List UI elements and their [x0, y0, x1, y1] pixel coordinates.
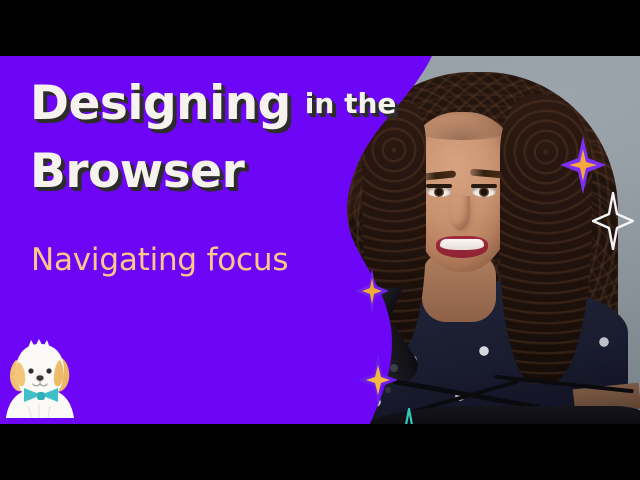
presenter-nose: [450, 196, 470, 230]
presenter-hair-strand-right: [500, 94, 592, 384]
presenter-mouth: [436, 236, 488, 258]
letterbox-top: [0, 0, 640, 56]
video-thumbnail: Designingin the Browser Navigating focus: [0, 0, 640, 480]
subtitle: Navigating focus: [31, 242, 288, 278]
title-overlay: Designingin the Browser Navigating focus: [0, 56, 400, 424]
title-word-in-the: in the: [305, 87, 397, 120]
dog-mascot-logo: [4, 338, 78, 418]
letterbox-bottom: [0, 424, 640, 480]
presenter-lash-left: [426, 184, 452, 188]
title-word-designing: Designing: [30, 76, 291, 131]
title-line-2: Browser: [30, 148, 244, 195]
title-line-1: Designingin the: [30, 80, 396, 127]
presenter-lash-right: [471, 184, 497, 188]
